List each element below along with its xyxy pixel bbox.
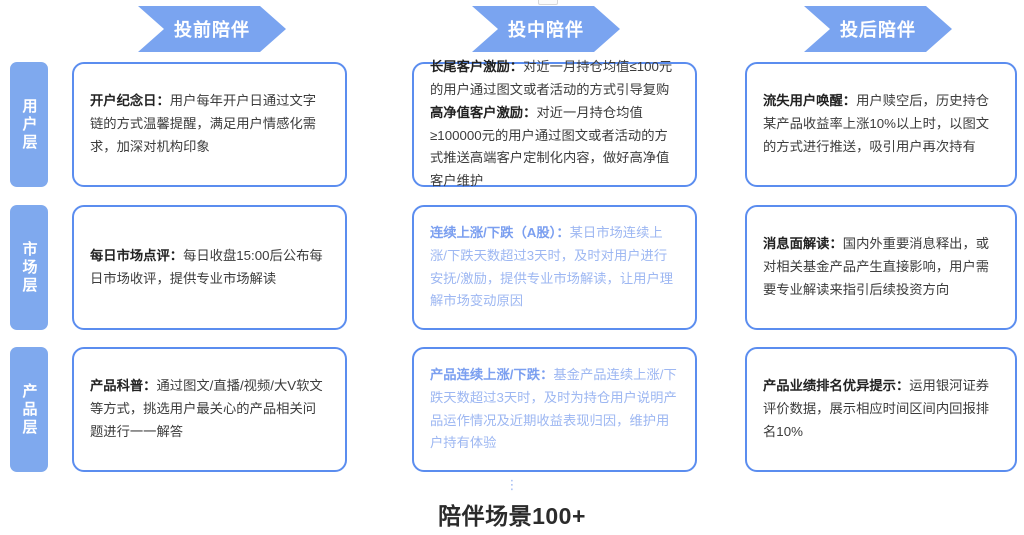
vertical-ellipsis-icon: ⋮ xyxy=(0,478,1024,491)
card-user-pre[interactable]: 开户纪念日：用户每年开户日通过文字链的方式温馨提醒，满足用户情感化需求，加深对机… xyxy=(72,62,347,187)
card-market-post[interactable]: 消息面解读：国内外重要消息释出，或对相关基金产品产生直接影响，用户需要专业解读来… xyxy=(745,205,1017,330)
card-user-mid-title-b: 高净值客户激励： xyxy=(430,105,536,120)
card-market-mid[interactable]: 连续上涨/下跌（A股）：某日市场连续上涨/下跌天数超过3天时，及时对用户进行安抚… xyxy=(412,205,697,330)
phase-banner-mid[interactable]: 投中陪伴 xyxy=(472,6,620,52)
phase-banner-pre[interactable]: 投前陪伴 xyxy=(138,6,286,52)
card-product-pre-title: 产品科普： xyxy=(90,378,156,393)
layer-rail-product-label: 产品层 xyxy=(19,383,40,437)
card-market-post-text: 消息面解读：国内外重要消息释出，或对相关基金产品产生直接影响，用户需要专业解读来… xyxy=(763,233,999,302)
card-user-mid-text: 长尾客户激励：对近一月持仓均值≤100元的用户通过图文或者活动的方式引导复购高净… xyxy=(430,56,679,193)
phase-banner-row: 投前陪伴 投中陪伴 投后陪伴 xyxy=(0,6,1024,52)
layer-rail-market[interactable]: 市场层 xyxy=(10,205,48,330)
card-market-post-title: 消息面解读： xyxy=(763,236,843,251)
card-product-post-title: 产品业绩排名优异提示： xyxy=(763,378,909,393)
card-product-mid[interactable]: 产品连续上涨/下跌：基金产品连续上涨/下跌天数超过3天时，及时为持仓用户说明产品… xyxy=(412,347,697,472)
card-product-pre[interactable]: 产品科普：通过图文/直播/视频/大V软文等方式，挑选用户最关心的产品相关问题进行… xyxy=(72,347,347,472)
card-product-mid-text: 产品连续上涨/下跌：基金产品连续上涨/下跌天数超过3天时，及时为持仓用户说明产品… xyxy=(430,364,679,455)
layer-rail-product[interactable]: 产品层 xyxy=(10,347,48,472)
card-market-pre-text: 每日市场点评：每日收盘15:00后公布每日市场收评，提供专业市场解读 xyxy=(90,245,329,291)
layer-rail-market-label: 市场层 xyxy=(19,241,40,295)
phase-banner-pre-label: 投前陪伴 xyxy=(174,16,250,42)
phase-banner-post[interactable]: 投后陪伴 xyxy=(804,6,952,52)
phase-banner-post-label: 投后陪伴 xyxy=(840,16,916,42)
card-user-pre-title: 开户纪念日： xyxy=(90,93,170,108)
card-market-pre[interactable]: 每日市场点评：每日收盘15:00后公布每日市场收评，提供专业市场解读 xyxy=(72,205,347,330)
card-product-mid-title: 产品连续上涨/下跌： xyxy=(430,367,553,382)
footer-title: 陪伴场景100+ xyxy=(0,497,1024,531)
card-user-post-text: 流失用户唤醒：用户赎空后，历史持仓某产品收益率上涨10%以上时，以图文的方式进行… xyxy=(763,90,999,159)
card-market-pre-title: 每日市场点评： xyxy=(90,248,183,263)
layer-rail-user[interactable]: 用户层 xyxy=(10,62,48,187)
card-user-mid-title-a: 长尾客户激励： xyxy=(430,59,523,74)
card-product-pre-text: 产品科普：通过图文/直播/视频/大V软文等方式，挑选用户最关心的产品相关问题进行… xyxy=(90,375,329,444)
card-user-mid[interactable]: 长尾客户激励：对近一月持仓均值≤100元的用户通过图文或者活动的方式引导复购高净… xyxy=(412,62,697,187)
card-market-mid-text: 连续上涨/下跌（A股）：某日市场连续上涨/下跌天数超过3天时，及时对用户进行安抚… xyxy=(430,222,679,313)
card-product-post[interactable]: 产品业绩排名优异提示：运用银河证券评价数据，展示相应时间区间内回报排名10% xyxy=(745,347,1017,472)
card-user-post[interactable]: 流失用户唤醒：用户赎空后，历史持仓某产品收益率上涨10%以上时，以图文的方式进行… xyxy=(745,62,1017,187)
layer-rail-user-label: 用户层 xyxy=(19,98,40,152)
phase-banner-mid-label: 投中陪伴 xyxy=(508,16,584,42)
card-market-mid-title: 连续上涨/下跌（A股）： xyxy=(430,225,570,240)
card-user-post-title: 流失用户唤醒： xyxy=(763,93,856,108)
card-user-pre-text: 开户纪念日：用户每年开户日通过文字链的方式温馨提醒，满足用户情感化需求，加深对机… xyxy=(90,90,329,159)
card-product-post-text: 产品业绩排名优异提示：运用银河证券评价数据，展示相应时间区间内回报排名10% xyxy=(763,375,999,444)
top-edge-artifact xyxy=(538,0,558,5)
